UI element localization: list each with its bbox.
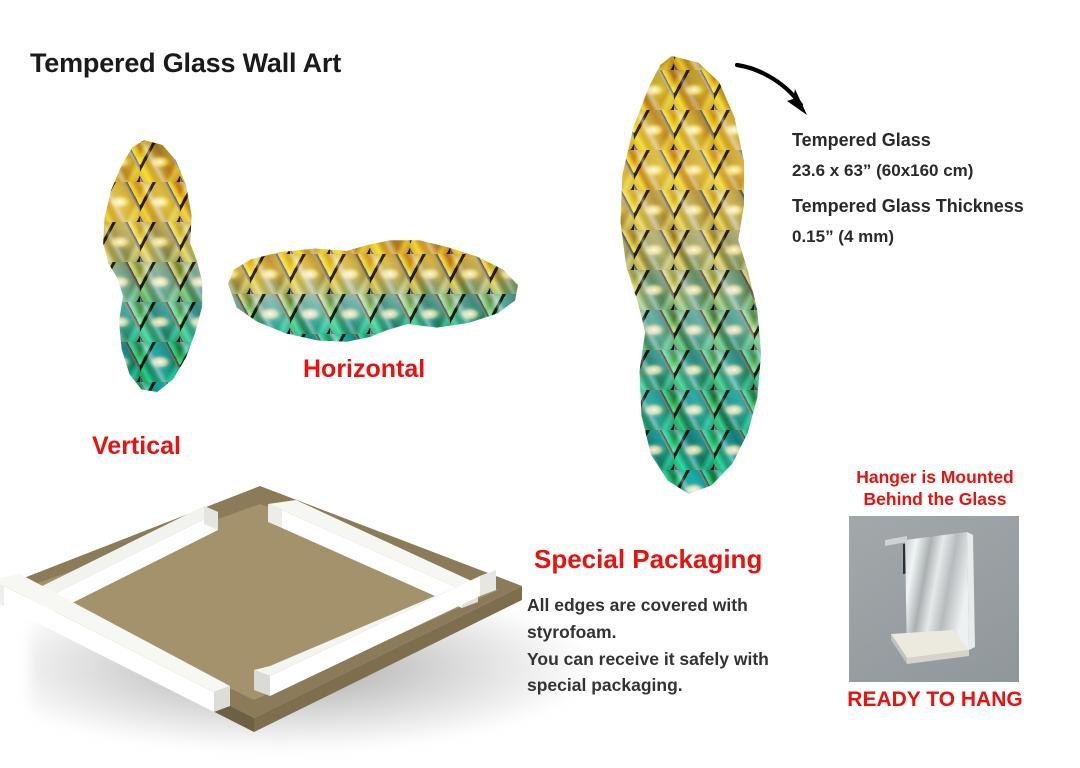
artwork-image-vertical [86, 140, 218, 392]
callout-arrow-icon [735, 55, 825, 130]
artwork-panel-horizontal [228, 232, 518, 350]
spec-thickness-value: 0.15” (4 mm) [792, 227, 894, 247]
spec-size-value: 23.6 x 63” (60x160 cm) [792, 161, 973, 181]
packaging-line-3: You can receive it safely with [527, 646, 827, 673]
packaging-heading: Special Packaging [534, 544, 762, 575]
packaging-description: All edges are covered with styrofoam. Yo… [527, 592, 827, 699]
packaging-line-4: special packaging. [527, 672, 827, 699]
packaging-illustration [0, 470, 542, 735]
orientation-label-vertical: Vertical [92, 432, 181, 461]
packaging-line-1: All edges are covered with [527, 592, 827, 619]
infographic-canvas: Tempered Glass Wall Art Vertical Horizon… [0, 0, 1080, 768]
artwork-panel-vertical [86, 140, 218, 392]
hanger-title-line-2: Behind the Glass [845, 488, 1025, 510]
artwork-pattern [228, 232, 518, 350]
orientation-label-horizontal: Horizontal [303, 355, 425, 384]
hanger-title-line-1: Hanger is Mounted [845, 466, 1025, 488]
spec-material-label: Tempered Glass [792, 130, 931, 151]
hanger-bracket-illustration [849, 516, 1019, 682]
hanger-photo [849, 516, 1019, 682]
hanger-title: Hanger is Mounted Behind the Glass [845, 466, 1025, 511]
artwork-pattern [86, 140, 218, 392]
packaging-line-2: styrofoam. [527, 619, 827, 646]
artwork-image-horizontal [228, 232, 518, 350]
hanger-ready-label: READY TO HANG [845, 688, 1025, 712]
page-title: Tempered Glass Wall Art [30, 48, 341, 79]
spec-thickness-label: Tempered Glass Thickness [792, 196, 1024, 217]
